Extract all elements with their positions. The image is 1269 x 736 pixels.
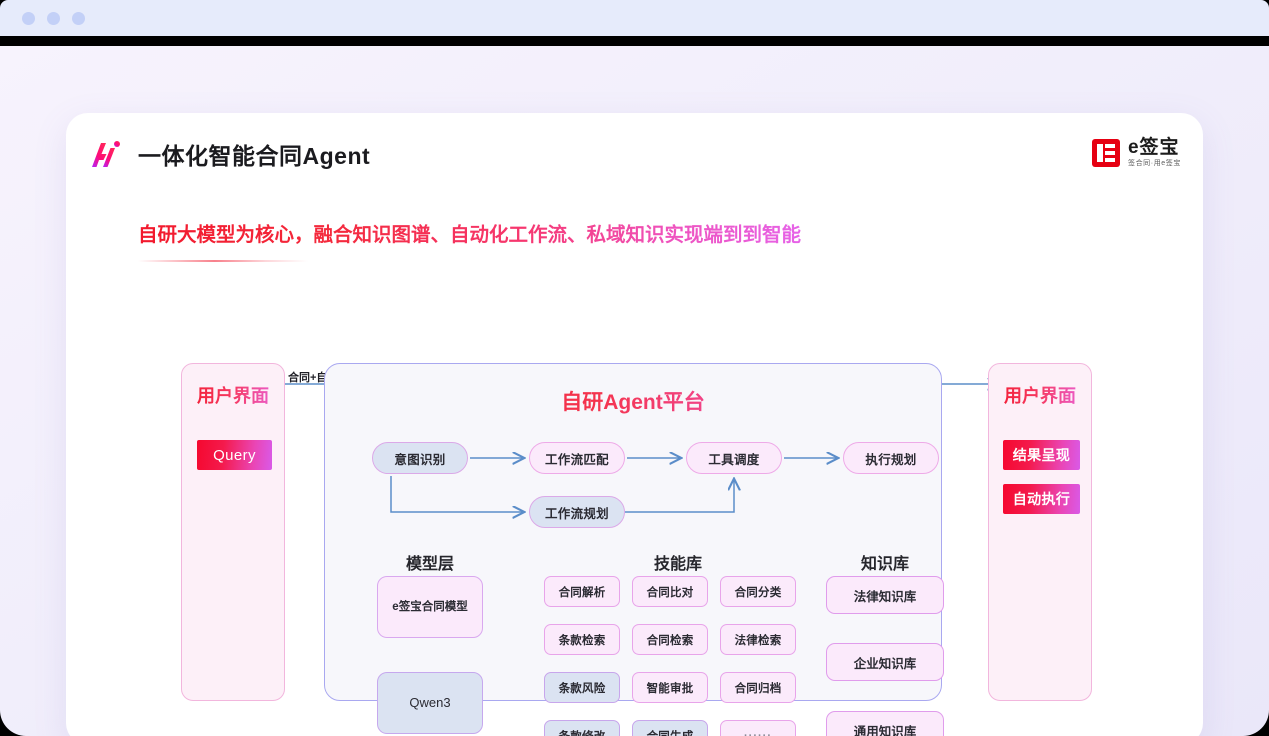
browser-chrome — [0, 0, 1269, 36]
skill-box[interactable]: 智能审批 — [632, 672, 708, 703]
node-workflow-match[interactable]: 工作流匹配 — [529, 442, 625, 474]
skill-box[interactable]: 条款检索 — [544, 624, 620, 655]
column-heading-model: 模型层 — [355, 550, 505, 574]
window-dot-maximize[interactable] — [72, 12, 85, 25]
window-controls[interactable] — [22, 12, 85, 25]
chip-query[interactable]: Query — [197, 440, 272, 470]
esign-badge-icon — [1092, 139, 1120, 167]
skill-box[interactable]: 法律检索 — [720, 624, 796, 655]
skill-box[interactable]: 条款修改 — [544, 720, 620, 736]
skill-box[interactable]: 合同生成 — [632, 720, 708, 736]
node-execution-plan[interactable]: 执行规划 — [843, 442, 939, 474]
platform-title: 自研Agent平台 — [325, 386, 941, 416]
subtitle: 自研大模型为核心，融合知识图谱、自动化工作流、私域知识实现端到到智能 — [138, 218, 801, 247]
architecture-diagram: 用户界面 Query 合同+自然语言 自研Agent平台 — [66, 291, 1203, 731]
skill-box[interactable]: 合同比对 — [632, 576, 708, 607]
model-box-esign[interactable]: e签宝合同模型 — [377, 576, 483, 638]
slide-header: 一体化智能合同Agent e签宝 签合同·用e签宝 — [66, 113, 1203, 193]
esign-logo: e签宝 签合同·用e签宝 — [1092, 138, 1181, 167]
column-heading-knowledge: 知识库 — [825, 550, 945, 574]
skill-box[interactable]: 合同检索 — [632, 624, 708, 655]
chip-auto-execute[interactable]: 自动执行 — [1003, 484, 1080, 514]
column-heading-skills: 技能库 — [543, 550, 813, 574]
brand-row: 一体化智能合同Agent — [90, 137, 370, 171]
node-tool-dispatch[interactable]: 工具调度 — [686, 442, 782, 474]
esign-tagline: 签合同·用e签宝 — [1128, 160, 1181, 167]
panel-title-left: 用户界面 — [182, 382, 284, 408]
user-interface-panel-left: 用户界面 Query — [181, 363, 285, 701]
chrome-divider — [0, 36, 1269, 46]
knowledge-box-legal[interactable]: 法律知识库 — [826, 576, 944, 614]
model-box-qwen[interactable]: Qwen3 — [377, 672, 483, 734]
node-workflow-plan[interactable]: 工作流规划 — [529, 496, 625, 528]
knowledge-box-general[interactable]: 通用知识库 — [826, 711, 944, 736]
skill-box[interactable]: 条款风险 — [544, 672, 620, 703]
page-backdrop: 一体化智能合同Agent e签宝 签合同·用e签宝 自研大模型为核心，融合知识图… — [0, 46, 1269, 736]
page-title: 一体化智能合同Agent — [138, 137, 370, 171]
esign-name: e签宝 — [1128, 138, 1181, 157]
knowledge-box-company[interactable]: 企业知识库 — [826, 643, 944, 681]
window-dot-close[interactable] — [22, 12, 35, 25]
esign-text: e签宝 签合同·用e签宝 — [1128, 138, 1181, 167]
skill-box[interactable]: ······ — [720, 720, 796, 736]
skill-box[interactable]: 合同分类 — [720, 576, 796, 607]
ai-mark-icon — [90, 139, 124, 169]
chip-result-presentation[interactable]: 结果呈现 — [1003, 440, 1080, 470]
slide-card: 一体化智能合同Agent e签宝 签合同·用e签宝 自研大模型为核心，融合知识图… — [66, 113, 1203, 736]
skill-box[interactable]: 合同归档 — [720, 672, 796, 703]
subtitle-underline — [138, 260, 308, 262]
user-interface-panel-right: 用户界面 结果呈现 自动执行 — [988, 363, 1092, 701]
panel-title-right: 用户界面 — [989, 382, 1091, 408]
skill-box[interactable]: 合同解析 — [544, 576, 620, 607]
agent-platform-box: 自研Agent平台 意图识别 工作流匹配 工具调度 执行规划 — [324, 363, 942, 701]
node-intent-recognition[interactable]: 意图识别 — [372, 442, 468, 474]
subtitle-block: 自研大模型为核心，融合知识图谱、自动化工作流、私域知识实现端到到智能 — [138, 218, 801, 262]
window-dot-minimize[interactable] — [47, 12, 60, 25]
